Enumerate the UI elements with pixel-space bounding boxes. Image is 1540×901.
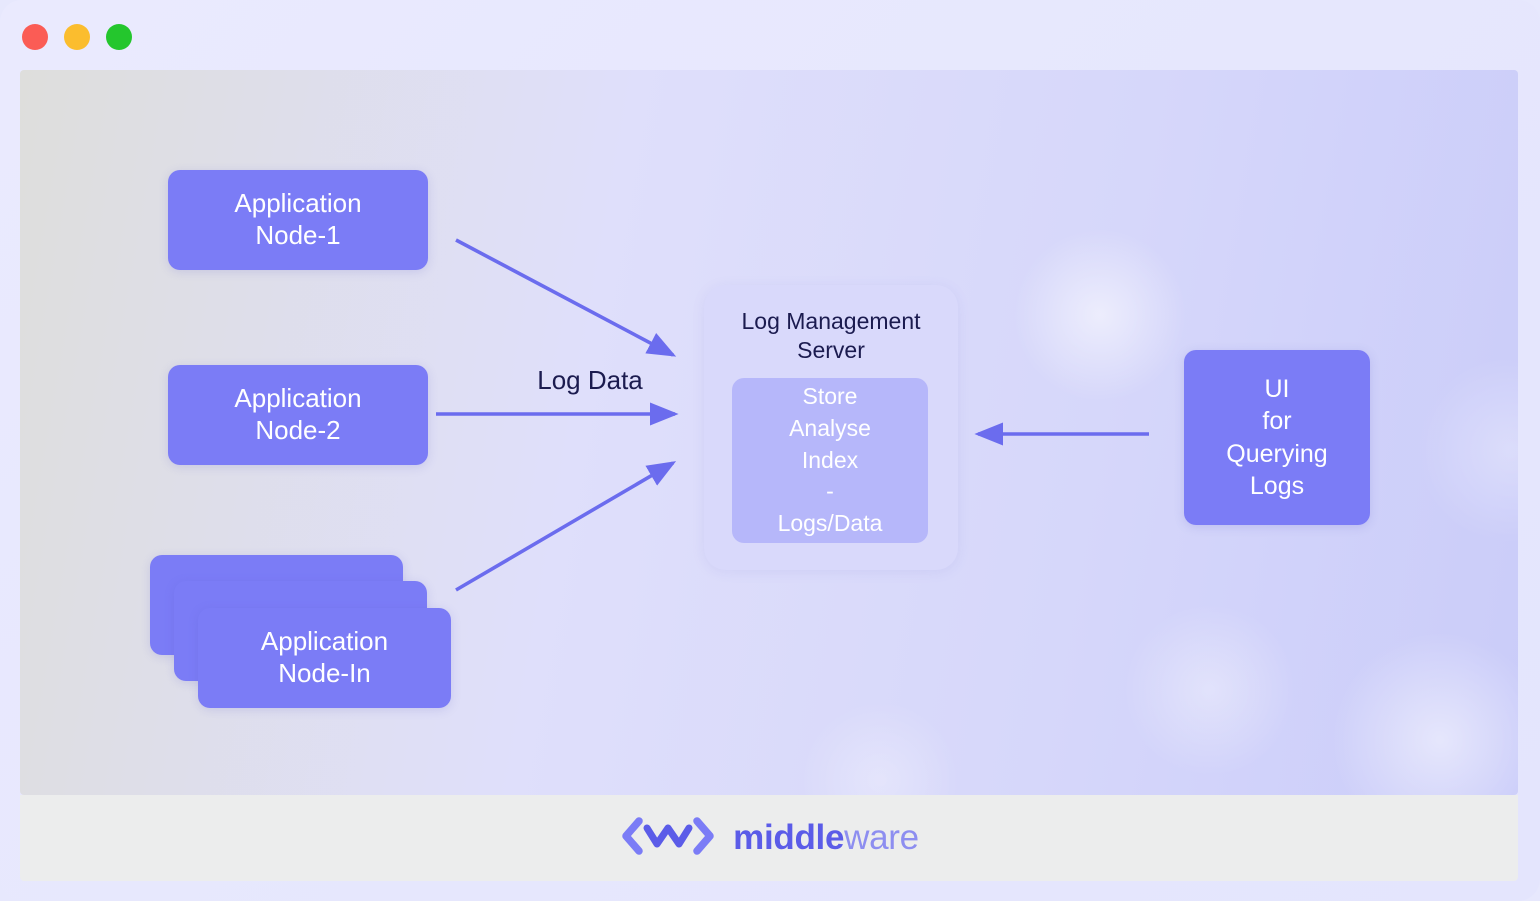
app-node-1-label-line1: Application	[234, 188, 361, 220]
server-title-line2: Server	[704, 336, 958, 365]
server-inner-line5: Logs/Data	[778, 508, 883, 540]
ui-label-line2: for	[1262, 405, 1291, 438]
app-node-2-box[interactable]: Application Node-2	[168, 365, 428, 465]
app-node-in-label-line2: Node-In	[278, 658, 371, 690]
architecture-diagram-canvas: Application Node-1 Application Node-2 Ap…	[20, 70, 1518, 795]
app-node-2-label-line2: Node-2	[255, 415, 340, 447]
app-node-1-box[interactable]: Application Node-1	[168, 170, 428, 270]
window-controls	[22, 24, 132, 50]
app-window: Application Node-1 Application Node-2 Ap…	[0, 0, 1540, 901]
brand-name-light: ware	[844, 818, 919, 857]
maximize-window-button[interactable]	[106, 24, 132, 50]
footer-brand-bar: middleware	[20, 795, 1518, 881]
arrow-app-node-in-to-server	[456, 463, 673, 590]
app-node-in-label-line1: Application	[261, 626, 388, 658]
middleware-wordmark: middleware	[733, 818, 919, 858]
window-titlebar	[0, 0, 1540, 72]
arrow-app-node-1-to-server	[456, 240, 673, 355]
minimize-window-button[interactable]	[64, 24, 90, 50]
middleware-chevron-zigzag-logo-icon	[619, 815, 717, 862]
app-node-1-label-line2: Node-1	[255, 220, 340, 252]
middleware-logo[interactable]: middleware	[619, 815, 919, 862]
ui-label-line1: UI	[1265, 373, 1290, 406]
server-inner-line3: Index	[802, 445, 858, 477]
log-management-server-title: Log Management Server	[704, 307, 958, 364]
app-node-2-label-line1: Application	[234, 383, 361, 415]
server-inner-line2: Analyse	[789, 413, 871, 445]
app-node-in-box[interactable]: Application Node-In	[198, 608, 451, 708]
server-inner-line1: Store	[803, 381, 858, 413]
app-node-in-stack[interactable]: Application Node-In	[150, 555, 450, 710]
edge-label-log-data: Log Data	[490, 365, 690, 396]
server-inner-store-analyse-index-box[interactable]: Store Analyse Index - Logs/Data	[732, 378, 928, 543]
close-window-button[interactable]	[22, 24, 48, 50]
ui-label-line4: Logs	[1250, 470, 1304, 503]
brand-name-strong: middle	[733, 818, 844, 857]
ui-label-line3: Querying	[1226, 438, 1327, 471]
server-inner-line4: -	[826, 476, 834, 508]
server-title-line1: Log Management	[704, 307, 958, 336]
ui-querying-logs-box[interactable]: UI for Querying Logs	[1184, 350, 1370, 525]
log-management-server-box[interactable]: Log Management Server Store Analyse Inde…	[704, 285, 958, 570]
